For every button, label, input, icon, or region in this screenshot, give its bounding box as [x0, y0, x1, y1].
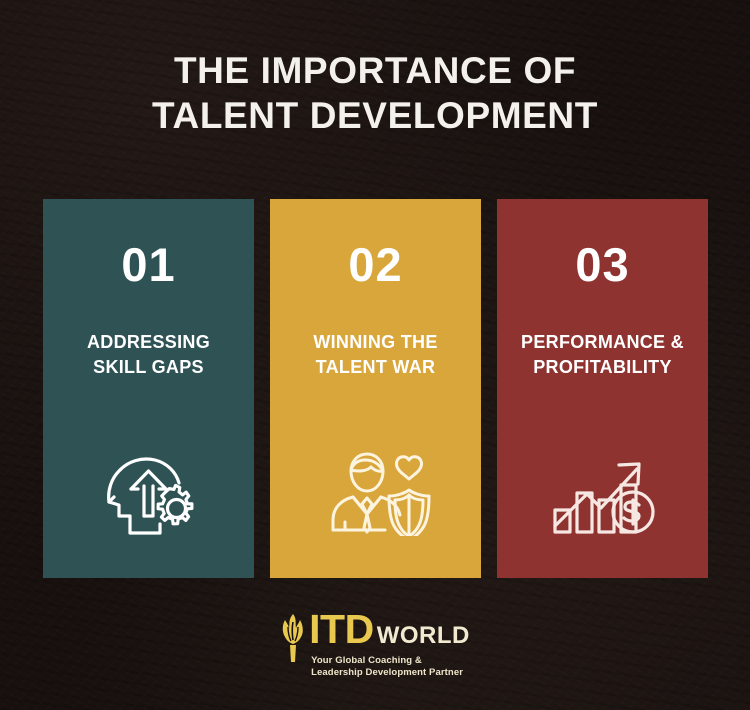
card-label: WINNING THE TALENT WAR	[270, 330, 481, 380]
logo-wordmark-secondary: WORLD	[377, 617, 470, 655]
logo-tagline-line-1: Your Global Coaching &	[311, 655, 470, 667]
page-title-line-1: THE IMPORTANCE OF	[0, 48, 750, 93]
torch-flame-icon	[280, 613, 306, 668]
card-number: 01	[121, 241, 175, 288]
page-title-line-2: TALENT DEVELOPMENT	[0, 93, 750, 138]
logo-tagline-line-2: Leadership Development Partner	[311, 667, 470, 679]
card-performance-profitability[interactable]: 03 PERFORMANCE & PROFITABILITY	[497, 199, 708, 578]
card-label-line-2: TALENT WAR	[316, 357, 436, 377]
card-label-line-1: PERFORMANCE &	[521, 332, 684, 352]
card-label-line-2: SKILL GAPS	[93, 357, 204, 377]
card-label: PERFORMANCE & PROFITABILITY	[497, 330, 708, 380]
brand-logo[interactable]: ITD WORLD Your Global Coaching & Leaders…	[0, 610, 750, 679]
logo-wordmark-primary: ITD	[309, 610, 374, 648]
card-number: 03	[575, 241, 629, 288]
card-addressing-skill-gaps[interactable]: 01 ADDRESSING SKILL GAPS	[43, 199, 254, 578]
page-title: THE IMPORTANCE OF TALENT DEVELOPMENT	[0, 48, 750, 138]
head-arrow-gear-icon	[43, 450, 254, 536]
card-winning-the-talent-war[interactable]: 02 WINNING THE TALENT WAR	[270, 199, 481, 578]
card-label-line-1: ADDRESSING	[87, 332, 210, 352]
card-label: ADDRESSING SKILL GAPS	[43, 330, 254, 380]
person-heart-shield-icon	[270, 448, 481, 536]
cards-row: 01 ADDRESSING SKILL GAPS	[43, 199, 708, 578]
infographic-poster: THE IMPORTANCE OF TALENT DEVELOPMENT 01 …	[0, 0, 750, 710]
card-number: 02	[348, 241, 402, 288]
growth-chart-dollar-icon	[497, 450, 708, 536]
card-label-line-2: PROFITABILITY	[533, 357, 672, 377]
card-label-line-1: WINNING THE	[313, 332, 437, 352]
